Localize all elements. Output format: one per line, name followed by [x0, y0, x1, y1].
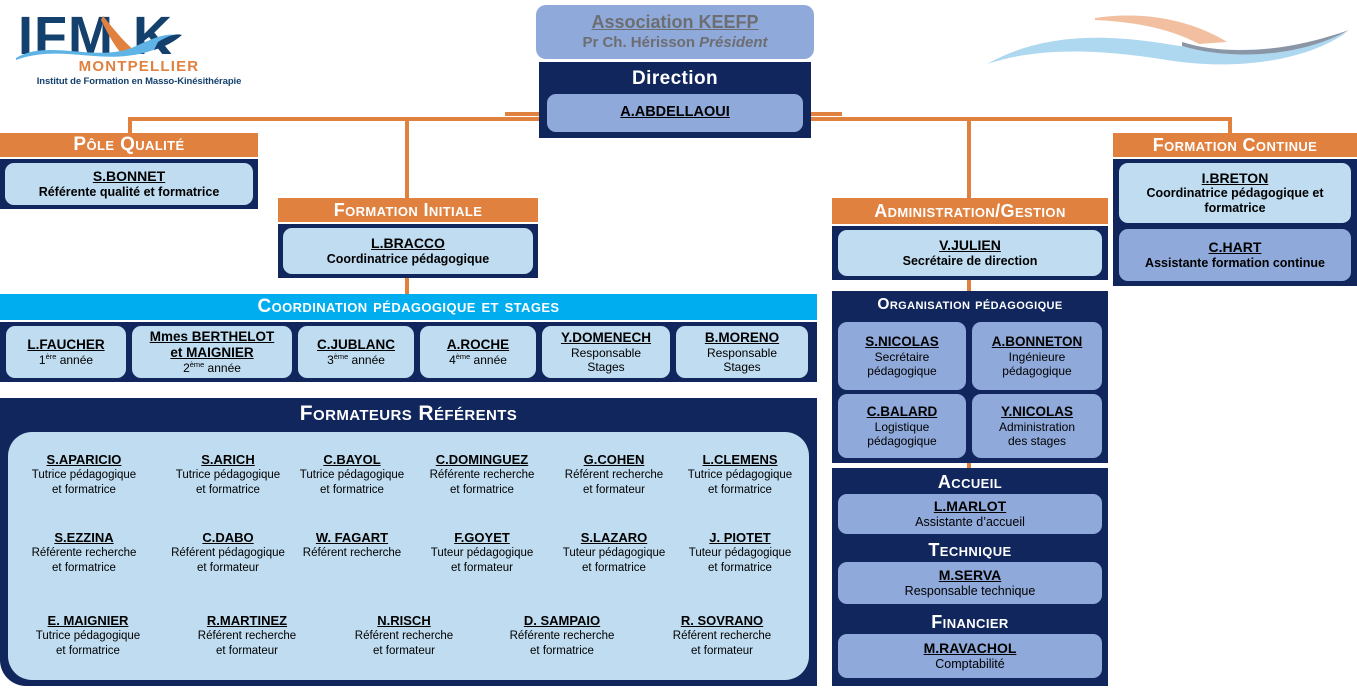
- person-name: C.JUBLANC: [317, 337, 395, 353]
- formateur-entry[interactable]: C.BAYOLTutrice pédagogiqueet formatrice: [290, 452, 414, 498]
- person-name: A.BONNETON: [992, 334, 1083, 350]
- formation-initiale-header: Formation Initiale: [278, 198, 538, 222]
- formateur-entry[interactable]: R.MARTINEZRéférent rechercheet formateur: [172, 613, 322, 659]
- formateur-entry[interactable]: G.COHENRéférent rechercheet formateur: [548, 452, 680, 498]
- logo-subtitle: Institut de Formation en Masso-Kinésithé…: [14, 76, 264, 87]
- person-name: Y.NICOLAS: [1001, 404, 1073, 420]
- formateur-entry[interactable]: D. SAMPAIORéférente rechercheet formatri…: [488, 613, 636, 659]
- formateur-entry[interactable]: S.ARICHTutrice pédagogiqueet formatrice: [158, 452, 298, 498]
- formation-initiale-name: L.BRACCO: [371, 235, 445, 252]
- formation-continue-card[interactable]: I.BRETONCoordinatrice pédagogique et for…: [1119, 163, 1351, 223]
- formateur-entry[interactable]: E. MAIGNIERTutrice pédagogiqueet formatr…: [18, 613, 158, 659]
- person-name: S.EZZINA: [18, 530, 150, 546]
- org-chart-canvas: IFM K MONTPELLIER Institut de Formation …: [0, 0, 1357, 689]
- person-name: S.LAZARO: [548, 530, 680, 546]
- person-role: Référent rechercheet formateur: [172, 629, 322, 658]
- pole-qualite-role: Référente qualité et formatrice: [39, 185, 220, 200]
- connector-to-formation-initiale: [405, 117, 409, 198]
- person-role: 3ème année: [327, 353, 385, 367]
- person-name: S.NICOLAS: [865, 334, 939, 350]
- person-role: 2ème année: [183, 361, 241, 375]
- direction-card[interactable]: A.ABDELLAOUI: [547, 94, 803, 132]
- person-role: Tuteur pédagogiqueet formateur: [412, 546, 552, 575]
- svg-text:IFM: IFM: [18, 6, 114, 66]
- formateur-entry[interactable]: N.RISCHRéférent rechercheet formateur: [330, 613, 478, 659]
- person-role: Référent pédagogiqueet formateur: [158, 546, 298, 575]
- ifmk-logo: IFM K MONTPELLIER Institut de Formation …: [8, 2, 268, 114]
- organisation-card[interactable]: S.NICOLASSecrétairepédagogique: [838, 322, 966, 390]
- person-role: Tutrice pédagogiqueet formatrice: [158, 468, 298, 497]
- connector-admin-to-organisation: [967, 278, 971, 292]
- person-name: G.COHEN: [548, 452, 680, 468]
- person-role: 4ème année: [449, 353, 507, 367]
- association-card[interactable]: Association KEEFP Pr Ch. Hérisson Présid…: [536, 5, 814, 59]
- person-role: Référent rechercheet formateur: [648, 629, 796, 658]
- coordination-card[interactable]: A.ROCHE4ème année: [420, 326, 536, 378]
- person-name: J. PIOTET: [678, 530, 802, 546]
- formateur-entry[interactable]: S.APARICIOTutrice pédagogiqueet formatri…: [18, 452, 150, 498]
- person-name: M.SERVA: [939, 567, 1002, 584]
- person-name: I.BRETON: [1202, 170, 1269, 187]
- formateur-entry[interactable]: R. SOVRANORéférent rechercheet formateur: [648, 613, 796, 659]
- formateur-entry[interactable]: C.DOMINGUEZRéférente rechercheet formatr…: [412, 452, 552, 498]
- person-role: Responsable technique: [905, 584, 1036, 599]
- person-name: L.FAUCHER: [27, 337, 104, 353]
- decorative-wave-graphic: [977, 0, 1357, 76]
- person-role: Assistante d’accueil: [915, 515, 1025, 530]
- person-name: S.ARICH: [158, 452, 298, 468]
- person-name: A.ROCHE: [447, 337, 509, 353]
- organisation-card[interactable]: C.BALARDLogistiquepédagogique: [838, 394, 966, 458]
- person-role: Référent recherche: [290, 546, 414, 561]
- person-name: C.BAYOL: [290, 452, 414, 468]
- person-role: Référente rechercheet formatrice: [488, 629, 636, 658]
- organisation-header: Organisation pédagogique: [832, 292, 1108, 318]
- coordination-header: Coordination pédagogique et stages: [0, 294, 817, 320]
- person-name: R. SOVRANO: [648, 613, 796, 629]
- person-role: Tuteur pédagogiqueet formatrice: [548, 546, 680, 575]
- person-role: Coordinatrice pédagogique et formatrice: [1123, 186, 1347, 216]
- person-name: B.MORENO: [705, 330, 779, 346]
- association-person-role: Président: [699, 34, 767, 51]
- person-name: C.HART: [1209, 239, 1262, 256]
- person-role: Référent rechercheet formateur: [548, 468, 680, 497]
- person-role: Tutrice pédagogiqueet formatrice: [18, 629, 158, 658]
- direction-name: A.ABDELLAOUI: [620, 104, 730, 121]
- person-name: L.MARLOT: [934, 498, 1006, 515]
- administration-card[interactable]: V.JULIEN Secrétaire de direction: [838, 230, 1102, 276]
- service-header: Accueil: [832, 470, 1108, 494]
- person-name: L.CLEMENS: [678, 452, 802, 468]
- administration-header: Administration/Gestion: [832, 198, 1108, 224]
- coordination-card[interactable]: B.MORENOResponsableStages: [676, 326, 808, 378]
- formateur-entry[interactable]: C.DABORéférent pédagogiqueet formateur: [158, 530, 298, 576]
- person-role: Secrétairepédagogique: [867, 350, 936, 379]
- coordination-card[interactable]: L.FAUCHER1ère année: [6, 326, 126, 378]
- person-name: C.DABO: [158, 530, 298, 546]
- person-name: C.DOMINGUEZ: [412, 452, 552, 468]
- formation-continue-card[interactable]: C.HARTAssistante formation continue: [1119, 229, 1351, 281]
- service-card[interactable]: L.MARLOTAssistante d’accueil: [838, 494, 1102, 534]
- formateur-entry[interactable]: S.EZZINARéférente rechercheet formatrice: [18, 530, 150, 576]
- person-role: Référent rechercheet formateur: [330, 629, 478, 658]
- organisation-card[interactable]: Y.NICOLASAdministrationdes stages: [972, 394, 1102, 458]
- administration-name: V.JULIEN: [939, 237, 1001, 254]
- formation-continue-header: Formation Continue: [1113, 133, 1357, 157]
- formateur-entry[interactable]: J. PIOTETTuteur pédagogiqueet formatrice: [678, 530, 802, 576]
- direction-header: Direction: [539, 64, 811, 94]
- coordination-card[interactable]: Y.DOMENECHResponsableStages: [542, 326, 670, 378]
- person-name: W. FAGART: [290, 530, 414, 546]
- person-role: Tutrice pédagogiqueet formatrice: [18, 468, 150, 497]
- association-title: Association KEEFP: [591, 12, 758, 33]
- service-header: Technique: [832, 538, 1108, 562]
- person-role: ResponsableStages: [707, 346, 777, 375]
- person-name: R.MARTINEZ: [172, 613, 322, 629]
- person-role: 1ère année: [39, 353, 93, 367]
- formateur-entry[interactable]: L.CLEMENSTutrice pédagogiqueet formatric…: [678, 452, 802, 498]
- person-name: C.BALARD: [867, 404, 938, 420]
- formateur-entry[interactable]: F.GOYETTuteur pédagogiqueet formateur: [412, 530, 552, 576]
- service-header: Financier: [832, 610, 1108, 634]
- organisation-card[interactable]: A.BONNETONIngénieurepédagogique: [972, 322, 1102, 390]
- person-role: Référente rechercheet formatrice: [412, 468, 552, 497]
- formation-initiale-card[interactable]: L.BRACCO Coordinatrice pédagogique: [283, 228, 533, 274]
- person-role: Assistante formation continue: [1145, 256, 1325, 271]
- person-role: Comptabilité: [935, 657, 1004, 672]
- formateur-entry[interactable]: W. FAGARTRéférent recherche: [290, 530, 414, 561]
- person-role: Logistiquepédagogique: [867, 420, 936, 449]
- coordination-card[interactable]: C.JUBLANC3ème année: [298, 326, 414, 378]
- person-name: M.RAVACHOL: [924, 640, 1017, 657]
- coordination-card[interactable]: Mmes BERTHELOT et MAIGNIER2ème année: [132, 326, 292, 378]
- association-person: Pr Ch. Hérisson Président: [582, 34, 767, 52]
- formateurs-header: Formateurs Référents: [0, 398, 817, 430]
- connector-to-administration: [967, 117, 971, 198]
- administration-role: Secrétaire de direction: [903, 254, 1038, 269]
- person-name: E. MAIGNIER: [18, 613, 158, 629]
- logo-city: MONTPELLIER: [14, 58, 264, 75]
- service-card[interactable]: M.RAVACHOLComptabilité: [838, 634, 1102, 678]
- person-name: Mmes BERTHELOT et MAIGNIER: [150, 329, 275, 361]
- connector-formation-initiale-to-coordination: [405, 278, 409, 294]
- person-role: Administrationdes stages: [999, 420, 1075, 449]
- association-person-name: Pr Ch. Hérisson: [582, 34, 695, 51]
- person-name: F.GOYET: [412, 530, 552, 546]
- person-role: Tutrice pédagogiqueet formatrice: [290, 468, 414, 497]
- person-role: Ingénieurepédagogique: [1002, 350, 1071, 379]
- person-role: Référente rechercheet formatrice: [18, 546, 150, 575]
- formateur-entry[interactable]: S.LAZAROTuteur pédagogiqueet formatrice: [548, 530, 680, 576]
- pole-qualite-name: S.BONNET: [93, 168, 165, 185]
- person-role: Tuteur pédagogiqueet formatrice: [678, 546, 802, 575]
- person-role: ResponsableStages: [571, 346, 641, 375]
- person-name: Y.DOMENECH: [561, 330, 651, 346]
- pole-qualite-card[interactable]: S.BONNET Référente qualité et formatrice: [5, 163, 253, 205]
- person-name: D. SAMPAIO: [488, 613, 636, 629]
- person-role: Tutrice pédagogiqueet formatrice: [678, 468, 802, 497]
- person-name: S.APARICIO: [18, 452, 150, 468]
- pole-qualite-header: Pôle Qualité: [0, 133, 258, 157]
- formation-initiale-role: Coordinatrice pédagogique: [327, 252, 490, 267]
- person-name: N.RISCH: [330, 613, 478, 629]
- service-card[interactable]: M.SERVAResponsable technique: [838, 562, 1102, 604]
